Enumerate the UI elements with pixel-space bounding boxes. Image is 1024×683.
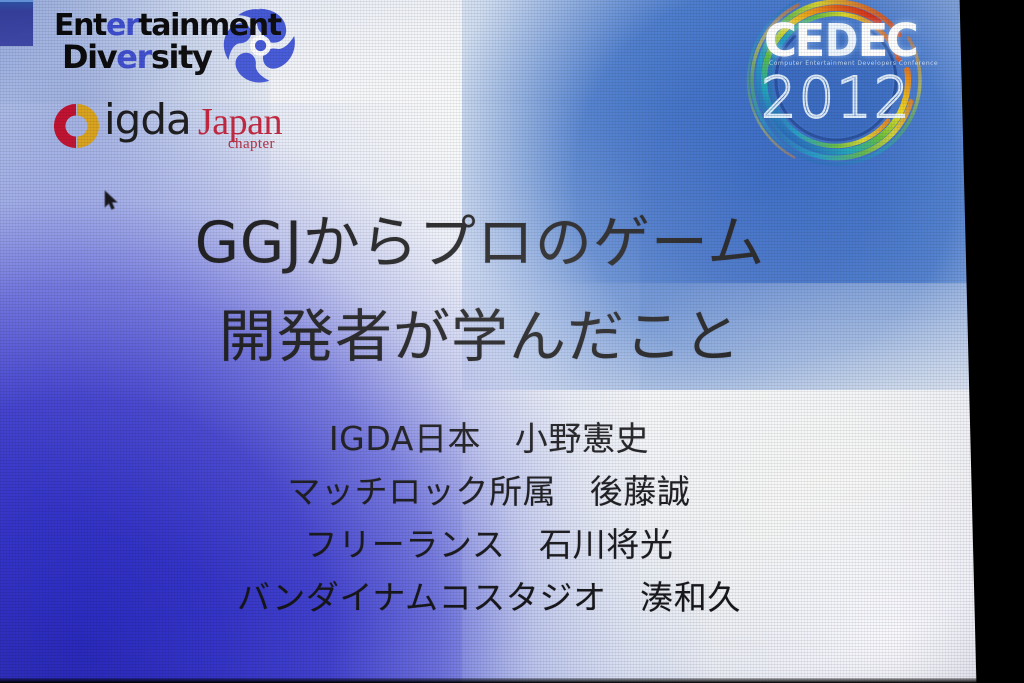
slide-title-line-2: 開発者が学んだこと bbox=[0, 290, 960, 384]
projected-slide: Entertainment Diversity igda Japan chapt… bbox=[0, 0, 1002, 683]
cedec-2012-logo: CEDEC Computer Entertainment Developers … bbox=[714, 0, 964, 188]
igda-chapter-text: chapter bbox=[228, 136, 275, 153]
slide-title: GGJからプロのゲーム 開発者が学んだこと bbox=[0, 196, 960, 384]
slide-title-line-1: GGJからプロのゲーム bbox=[0, 196, 960, 290]
background-window-edge bbox=[0, 0, 33, 46]
presenter-line-4: バンダイナムコスタジオ 湊和久 bbox=[0, 571, 978, 624]
presenter-line-2: マッチロック所属 後藤誠 bbox=[0, 465, 978, 518]
presenter-line-3: フリーランス 石川将光 bbox=[0, 518, 978, 571]
ed-line2-pre: Div bbox=[62, 38, 116, 76]
igda-japan-logo: igda Japan chapter bbox=[52, 98, 297, 160]
ed-logo-line-2: Diversity bbox=[62, 38, 211, 76]
entertainment-diversity-logo: Entertainment Diversity bbox=[52, 6, 297, 84]
photo-frame: Entertainment Diversity igda Japan chapt… bbox=[0, 0, 1024, 683]
ed-line2-accent: er bbox=[116, 38, 151, 76]
igda-ring-mark-icon bbox=[52, 102, 100, 150]
ed-line2-post: sity bbox=[151, 38, 212, 76]
presenter-list: IGDA日本 小野憲史 マッチロック所属 後藤誠 フリーランス 石川将光 バンダ… bbox=[0, 412, 978, 624]
igda-wordmark: igda bbox=[104, 95, 191, 144]
presenter-line-1: IGDA日本 小野憲史 bbox=[0, 412, 978, 465]
cedec-year: 2012 bbox=[761, 66, 912, 131]
